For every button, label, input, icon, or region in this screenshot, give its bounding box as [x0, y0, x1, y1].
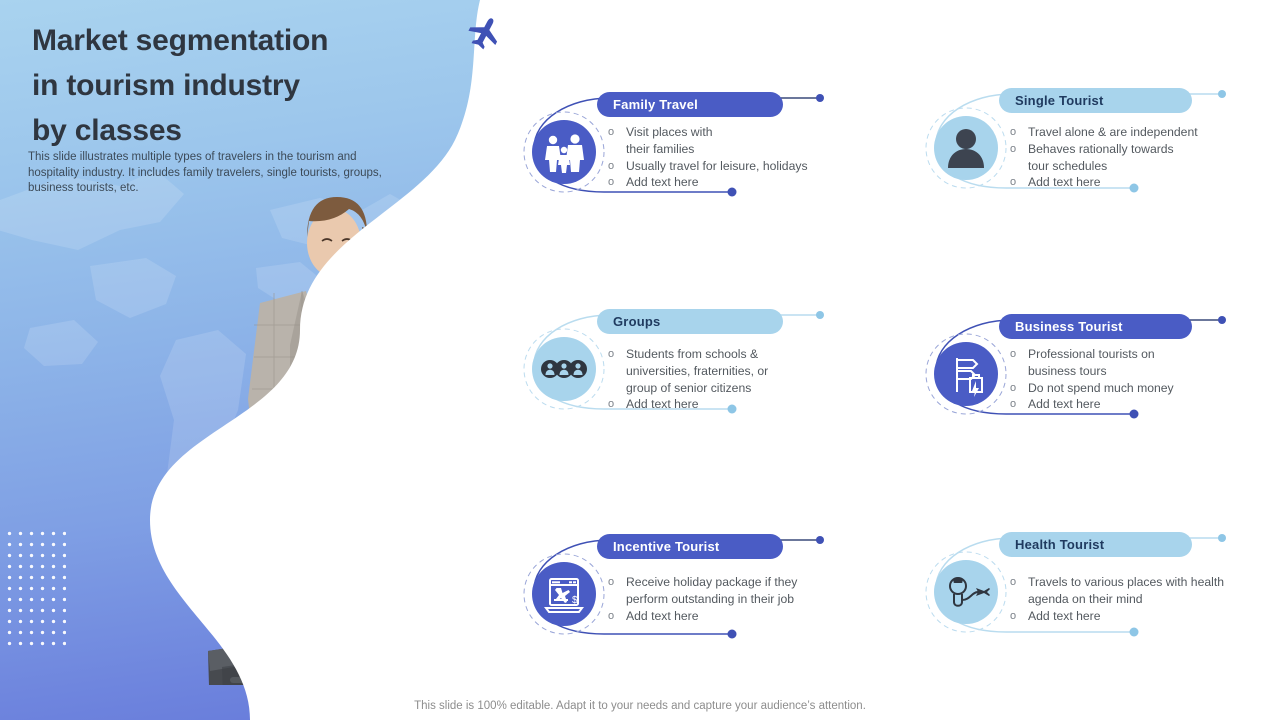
- bullet-marker: o: [608, 158, 626, 175]
- bullet-marker: o: [1010, 124, 1028, 141]
- list-item: o Behaves rationally towards tour schedu…: [1010, 141, 1260, 175]
- card-title: Health Tourist: [1015, 537, 1104, 552]
- single-person-icon: [918, 100, 1014, 196]
- bullet-marker: o: [1010, 380, 1028, 397]
- dot-grid-decoration: [4, 528, 66, 646]
- woman-with-suitcase-photo: [150, 185, 480, 685]
- list-item: o Visit places with their families: [608, 124, 858, 158]
- svg-text:$: $: [572, 595, 578, 606]
- card-bullets: o Students from schools & universities, …: [608, 346, 858, 413]
- list-item: o Add text here: [1010, 174, 1260, 191]
- card-title: Groups: [613, 314, 660, 329]
- list-item: o Usually travel for leisure, holidays: [608, 158, 858, 175]
- bullet-marker: o: [608, 174, 626, 191]
- card-bullets: o Visit places with their families o Usu…: [608, 124, 858, 191]
- three-people-icon: [516, 321, 612, 417]
- bullet-marker: o: [608, 346, 626, 363]
- card-title-pill: Incentive Tourist: [597, 534, 783, 559]
- card-title-pill: Single Tourist: [999, 88, 1192, 113]
- bullet-marker: o: [1010, 574, 1028, 591]
- page-title: Market segmentation in tourism industry …: [32, 18, 402, 153]
- card-title-pill: Family Travel: [597, 92, 783, 117]
- list-item: o Professional tourists on business tour…: [1010, 346, 1260, 380]
- card-title: Business Tourist: [1015, 319, 1123, 334]
- list-item: o Add text here: [1010, 608, 1275, 625]
- bullet-marker: o: [608, 574, 626, 591]
- card-title-pill: Business Tourist: [999, 314, 1192, 339]
- signpost-briefcase-icon: [918, 326, 1014, 422]
- list-item: o Add text here: [608, 174, 858, 191]
- list-item: o Add text here: [1010, 396, 1260, 413]
- airplane-icon: [466, 13, 504, 51]
- bullet-marker: o: [1010, 141, 1028, 158]
- card-title-pill: Health Tourist: [999, 532, 1192, 557]
- card-title: Incentive Tourist: [613, 539, 719, 554]
- slide-canvas: Market segmentation in tourism industry …: [0, 0, 1280, 720]
- list-item: o Add text here: [608, 608, 868, 625]
- list-item: o Students from schools & universities, …: [608, 346, 858, 396]
- card-title: Family Travel: [613, 97, 698, 112]
- bullet-marker: o: [608, 396, 626, 413]
- card-bullets: o Travel alone & are independent o Behav…: [1010, 124, 1260, 191]
- bullet-marker: o: [1010, 174, 1028, 191]
- list-item: o Do not spend much money: [1010, 380, 1260, 397]
- card-title-pill: Groups: [597, 309, 783, 334]
- bullet-marker: o: [608, 124, 626, 141]
- bullet-marker: o: [1010, 346, 1028, 363]
- card-title: Single Tourist: [1015, 93, 1104, 108]
- laptop-plane-dollar-icon: $: [516, 546, 612, 642]
- card-bullets: o Professional tourists on business tour…: [1010, 346, 1260, 413]
- footer-note: This slide is 100% editable. Adapt it to…: [0, 700, 1280, 712]
- page-subtitle: This slide illustrates multiple types of…: [28, 150, 388, 197]
- list-item: o Travel alone & are independent: [1010, 124, 1260, 141]
- list-item: o Receive holiday package if they perfor…: [608, 574, 868, 608]
- list-item: o Travels to various places with health …: [1010, 574, 1275, 608]
- bullet-marker: o: [608, 608, 626, 625]
- stethoscope-plane-icon: [918, 544, 1014, 640]
- bullet-marker: o: [1010, 396, 1028, 413]
- card-bullets: o Travels to various places with health …: [1010, 574, 1275, 624]
- family-group-icon: [516, 104, 612, 200]
- card-bullets: o Receive holiday package if they perfor…: [608, 574, 868, 624]
- list-item: o Add text here: [608, 396, 858, 413]
- bullet-marker: o: [1010, 608, 1028, 625]
